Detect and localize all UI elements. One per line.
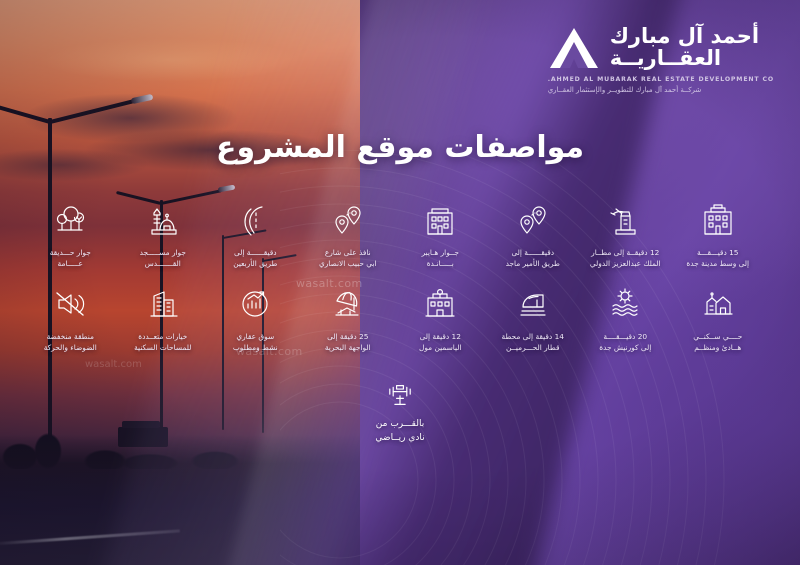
logo-subtitle-english: AHMED AL MUBARAK REAL ESTATE DEVELOPMENT… xyxy=(548,76,774,83)
feature-label: 12 دقيقــة إلى مطــار الملك عبدالعزيز ال… xyxy=(590,247,661,270)
feature-item-arbaeen-road: دقيقــــــة إلى طريق الأربعين xyxy=(209,200,302,270)
feature-label-line-1: 12 دقيقــة إلى مطــار xyxy=(590,247,661,258)
feature-label-line-2: الضوضاء والحركة xyxy=(44,342,97,353)
feature-label-line-2: إلى وسط مدينة جدة xyxy=(686,258,749,269)
logo-subtitle-arabic: شركــة أحمد آل مبارك للتطويــر والإستثما… xyxy=(548,86,702,94)
feature-label: منطقة منخفضة الضوضاء والحركة xyxy=(44,331,97,354)
feature-label: جــوار هـايبر بـــــانـدة xyxy=(422,247,459,270)
feature-label-line-2: الواجهة البحرية xyxy=(325,342,371,353)
feature-label-line-2: نادي ريــاضي xyxy=(375,432,424,446)
feature-label-line-1: خيارات متعــددة xyxy=(134,331,191,342)
map-pins-icon xyxy=(328,200,368,240)
feature-item-low-noise-area: منطقة منخفضة الضوضاء والحركة xyxy=(24,284,117,354)
company-logo: أحمد آل مبارك العقــاريــة AHMED AL MUBA… xyxy=(548,26,774,94)
feature-label: 14 دقيقة إلى محطة قطار الحـــرميــن xyxy=(502,331,564,354)
feature-label-line-2: القـــــــدس xyxy=(140,258,186,269)
winding-road-icon xyxy=(235,200,275,240)
feature-label-line-2: الملك عبدالعزيز الدولي xyxy=(590,258,661,269)
feature-label-line-2: طريق الأربعين xyxy=(233,258,277,269)
feature-label-line-2: بـــــانـدة xyxy=(422,258,459,269)
feature-item-king-abdulaziz-airport: 12 دقيقــة إلى مطــار الملك عبدالعزيز ال… xyxy=(579,200,672,270)
feature-label-line-1: 12 دقيقة إلى xyxy=(419,331,462,342)
feature-item-jeddah-corniche: 20 دقيـــقــــة إلى كورنيش جدة xyxy=(579,284,672,354)
feature-item-haramain-train-station: 14 دقيقة إلى محطة قطار الحـــرميــن xyxy=(487,284,580,354)
feature-item-abu-habib-street: نافذ على شارع ابي حبيب الانصاري xyxy=(302,200,395,270)
project-location-poster: أحمد آل مبارك العقــاريــة AHMED AL MUBA… xyxy=(0,0,800,565)
feature-label: بالقـــرب من نادي ريــاضي xyxy=(375,418,424,445)
feature-label-line-2: قطار الحـــرميــن xyxy=(502,342,564,353)
feature-label-line-1: نافذ على شارع xyxy=(319,247,377,258)
feature-label-line-1: جــوار هـايبر xyxy=(422,247,459,258)
sun-waves-beach-icon xyxy=(605,284,645,324)
feature-label: دقيقــــــة إلى طريق الأمير ماجد xyxy=(506,247,560,270)
watermark-lower: wasalt.com xyxy=(236,345,303,358)
feature-label-line-1: حــــي ســكنــي xyxy=(693,331,742,342)
feature-label-line-1: دقيقــــــة إلى xyxy=(506,247,560,258)
logo-name-line-2: العقــاريــة xyxy=(610,48,721,70)
feature-label: خيارات متعــددة للمساحات السكنية xyxy=(134,331,191,354)
feature-label: 15 دقيـــقـــة إلى وسط مدينة جدة xyxy=(686,247,749,270)
feature-label: نافذ على شارع ابي حبيب الانصاري xyxy=(319,247,377,270)
feature-item-quiet-residential: حــــي ســكنــي هــادئ ومنظــم xyxy=(672,284,765,354)
map-pins-icon xyxy=(513,200,553,240)
logo-name-line-1: أحمد آل مبارك xyxy=(610,26,759,48)
feature-label-line-1: 14 دقيقة إلى محطة xyxy=(502,331,564,342)
feature-label-line-1: 25 دقيقة إلى xyxy=(325,331,371,342)
feature-label-line-1: سوق عقاري xyxy=(233,331,278,342)
trees-park-icon xyxy=(50,200,90,240)
feature-label-line-2: ابي حبيب الانصاري xyxy=(319,258,377,269)
feature-label-line-1: جوار حـــديقة xyxy=(50,247,91,258)
mosque-icon xyxy=(143,200,183,240)
features-grid: 15 دقيـــقـــة إلى وسط مدينة جدة 12 دقيق… xyxy=(24,200,764,354)
feature-item-yasmin-mall: 12 دقيقة إلى الياسمين مول xyxy=(394,284,487,354)
watermark-center: wasalt.com xyxy=(296,277,363,290)
feature-label-line-1: 20 دقيـــقــــة xyxy=(599,331,651,342)
store-building-icon xyxy=(420,200,460,240)
feature-label-line-2: إلى كورنيش جدة xyxy=(599,342,651,353)
airport-control-tower-icon xyxy=(605,200,645,240)
feature-label-line-1: منطقة منخفضة xyxy=(44,331,97,342)
feature-item-waterfront: 25 دقيقة إلى الواجهة البحرية xyxy=(302,284,395,354)
feature-item-active-real-estate-market: سوق عقاري نشط ومطلوب xyxy=(209,284,302,354)
watermark-left: wasalt.com xyxy=(85,359,142,370)
feature-label: 20 دقيـــقــــة إلى كورنيش جدة xyxy=(599,331,651,354)
apartment-building-icon xyxy=(143,284,183,324)
feature-label-line-1: 15 دقيـــقـــة xyxy=(686,247,749,258)
house-icon xyxy=(698,284,738,324)
feature-label-line-2: للمساحات السكنية xyxy=(134,342,191,353)
feature-label-line-2: الياسمين مول xyxy=(419,342,462,353)
mall-building-icon xyxy=(420,284,460,324)
gym-equipment-icon xyxy=(383,378,417,412)
chevron-mountain-logo-icon xyxy=(548,26,600,70)
feature-item-downtown-jeddah: 15 دقيـــقـــة إلى وسط مدينة جدة xyxy=(672,200,765,270)
logo-main-row: أحمد آل مبارك العقــاريــة xyxy=(548,26,759,70)
feature-label: دقيقــــــة إلى طريق الأربعين xyxy=(233,247,277,270)
feature-label: جوار مســـــجد القـــــــدس xyxy=(140,247,186,270)
train-icon xyxy=(513,284,553,324)
feature-label: 25 دقيقة إلى الواجهة البحرية xyxy=(325,331,371,354)
page-title: مواصفات موقع المشروع xyxy=(30,130,770,165)
feature-item-hyper-panda: جــوار هـايبر بـــــانـدة xyxy=(394,200,487,270)
feature-item-sports-club: بالقـــرب من نادي ريــاضي xyxy=(335,378,465,445)
feature-item-al-quds-mosque: جوار مســـــجد القـــــــدس xyxy=(117,200,210,270)
feature-label-line-1: بالقـــرب من xyxy=(375,418,424,432)
feature-label: جوار حـــديقة عـــــامة xyxy=(50,247,91,270)
feature-label-line-2: هــادئ ومنظــم xyxy=(693,342,742,353)
feature-item-prince-majid-road: دقيقــــــة إلى طريق الأمير ماجد xyxy=(487,200,580,270)
feature-item-multiple-unit-sizes: خيارات متعــددة للمساحات السكنية xyxy=(117,284,210,354)
feature-label-line-2: طريق الأمير ماجد xyxy=(506,258,560,269)
logo-arabic-name: أحمد آل مبارك العقــاريــة xyxy=(610,26,759,70)
feature-label-line-1: دقيقــــــة إلى xyxy=(233,247,277,258)
mute-speaker-icon xyxy=(50,284,90,324)
feature-label: حــــي ســكنــي هــادئ ومنظــم xyxy=(693,331,742,354)
government-building-icon xyxy=(698,200,738,240)
feature-label-line-2: عـــــامة xyxy=(50,258,91,269)
feature-label-line-1: جوار مســـــجد xyxy=(140,247,186,258)
growth-chart-icon xyxy=(235,284,275,324)
feature-item-public-park: جوار حـــديقة عـــــامة xyxy=(24,200,117,270)
feature-label: 12 دقيقة إلى الياسمين مول xyxy=(419,331,462,354)
